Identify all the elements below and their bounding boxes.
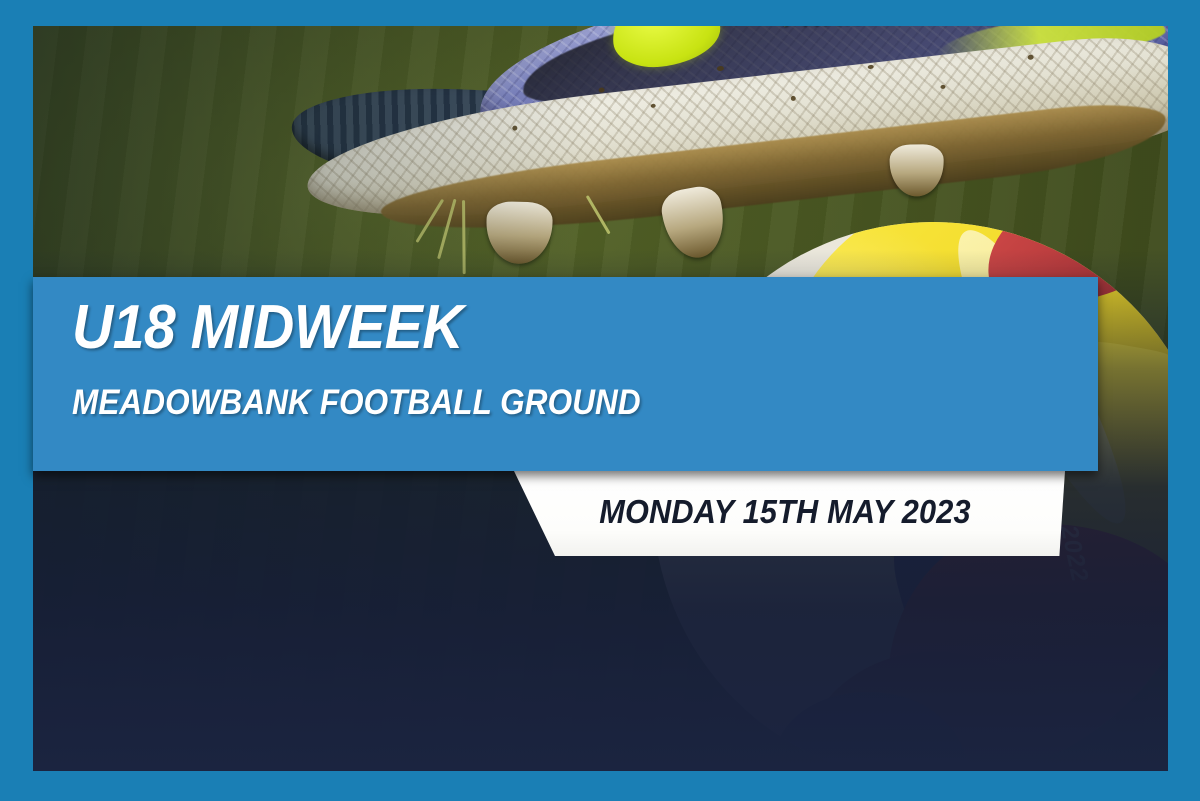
grass-blade [462,200,466,274]
event-date: MONDAY 15TH MAY 2023 [525,495,1046,528]
boot-stud [485,201,553,265]
poster: 2022 PHANTOM [0,0,1200,801]
event-venue: MEADOWBANK FOOTBALL GROUND [72,385,641,420]
title-banner: U18 MIDWEEK MEADOWBANK FOOTBALL GROUND [33,277,1098,471]
event-title: U18 MIDWEEK [72,297,463,359]
date-banner: MONDAY 15TH MAY 2023 [505,471,1065,556]
boot-stud [889,144,943,196]
